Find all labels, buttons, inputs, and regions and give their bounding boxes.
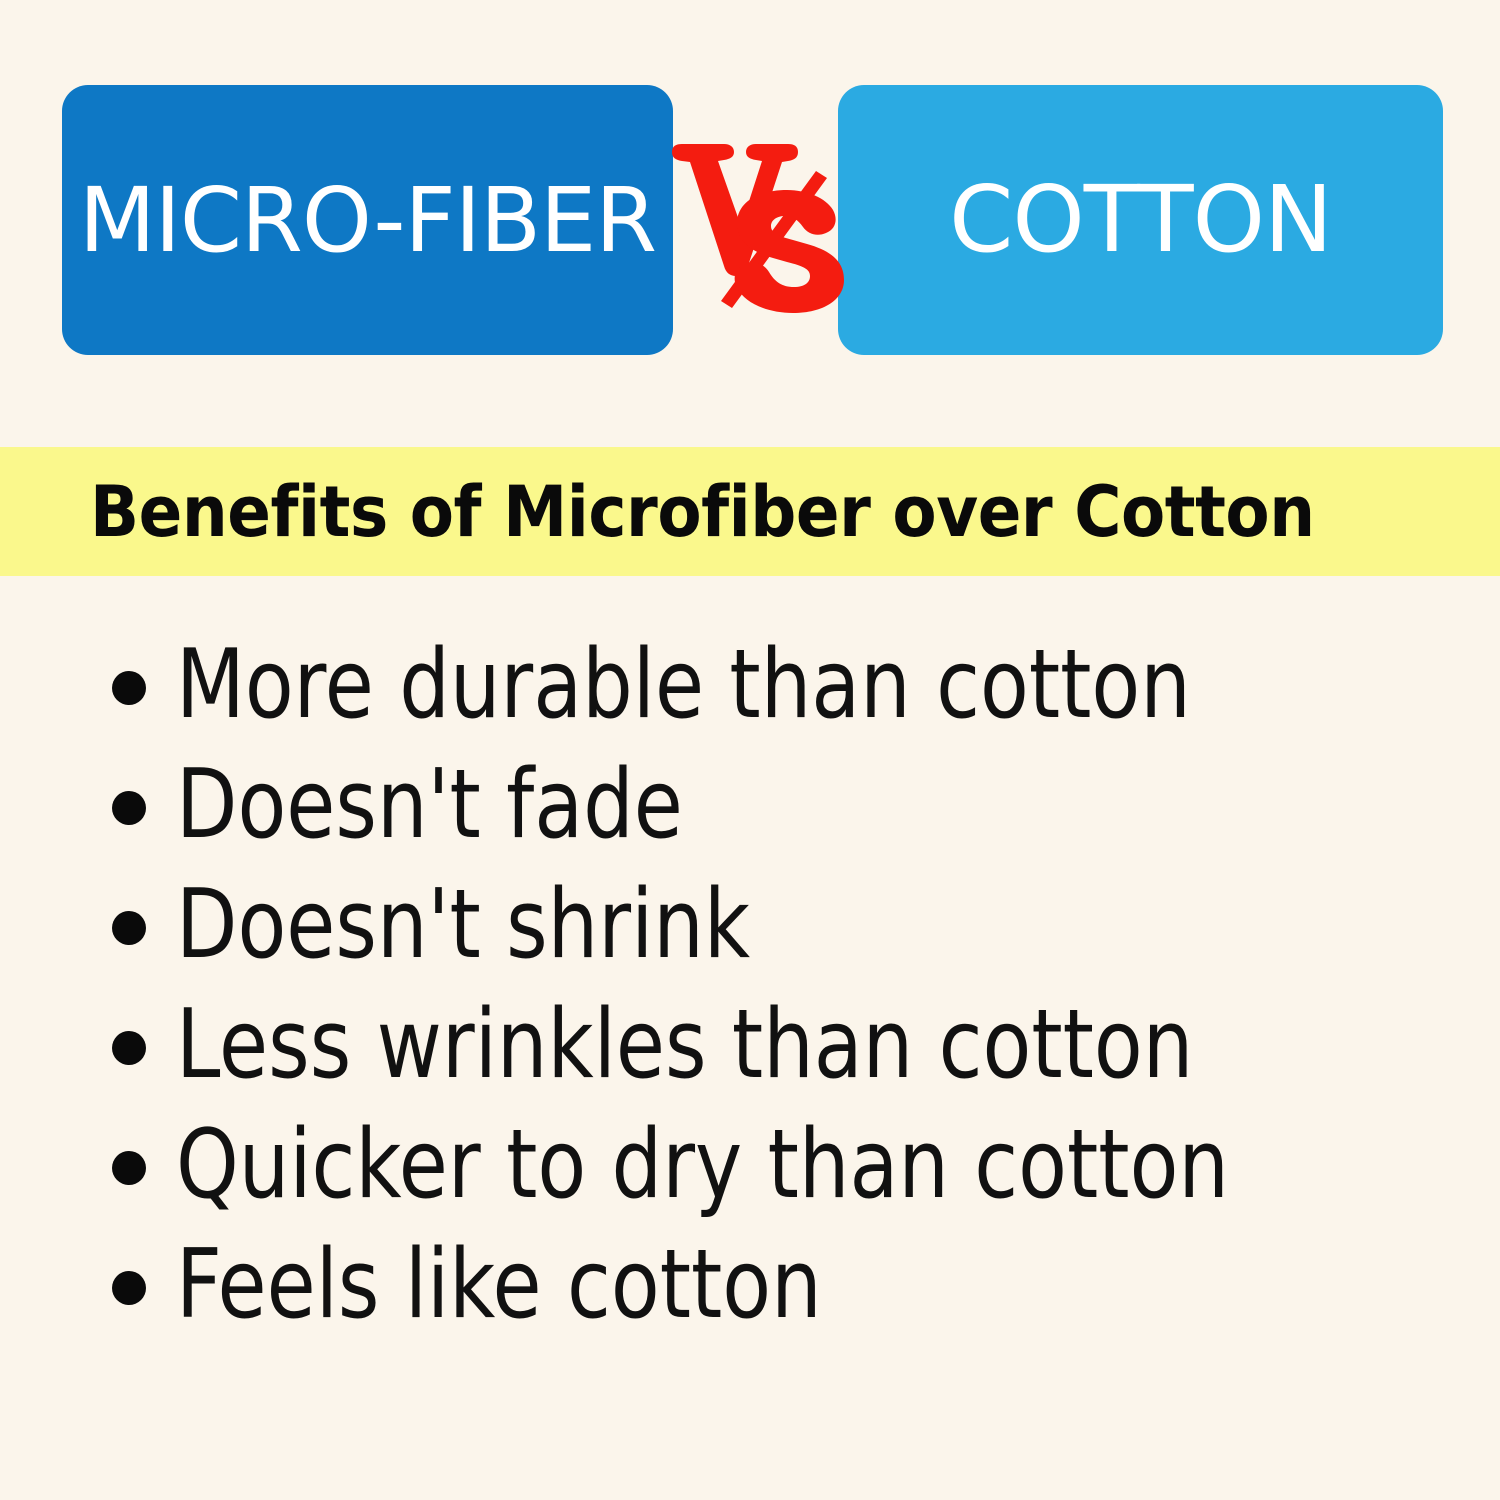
microfiber-box: MICRO-FIBER bbox=[62, 85, 673, 355]
list-item: Quicker to dry than cotton bbox=[0, 1105, 1500, 1225]
bullet-icon bbox=[112, 671, 146, 705]
infographic-root: MICRO-FIBER COTTON Benefits of Microfibe… bbox=[0, 0, 1500, 1500]
benefit-label: Less wrinkles than cotton bbox=[176, 998, 1193, 1093]
list-item: Less wrinkles than cotton bbox=[0, 985, 1500, 1105]
benefit-label: Feels like cotton bbox=[176, 1238, 822, 1333]
bullet-icon bbox=[112, 1271, 146, 1305]
benefit-label: Doesn't fade bbox=[176, 758, 683, 853]
bullet-icon bbox=[112, 911, 146, 945]
benefit-label: Doesn't shrink bbox=[176, 878, 750, 973]
benefit-label: More durable than cotton bbox=[176, 638, 1191, 733]
list-item: Feels like cotton bbox=[0, 1225, 1500, 1345]
benefits-list: More durable than cotton Doesn't fade Do… bbox=[0, 625, 1500, 1345]
title-band: Benefits of Microfiber over Cotton bbox=[0, 447, 1500, 576]
vs-emblem-icon bbox=[666, 128, 846, 313]
list-item: Doesn't fade bbox=[0, 745, 1500, 865]
benefit-label: Quicker to dry than cotton bbox=[176, 1118, 1229, 1213]
bullet-icon bbox=[112, 1151, 146, 1185]
list-item: Doesn't shrink bbox=[0, 865, 1500, 985]
microfiber-label: MICRO-FIBER bbox=[79, 176, 656, 265]
bullet-icon bbox=[112, 791, 146, 825]
page-title: Benefits of Microfiber over Cotton bbox=[90, 477, 1315, 547]
comparison-header: MICRO-FIBER COTTON bbox=[0, 0, 1500, 445]
bullet-icon bbox=[112, 1031, 146, 1065]
cotton-box: COTTON bbox=[838, 85, 1443, 355]
cotton-label: COTTON bbox=[949, 174, 1332, 266]
list-item: More durable than cotton bbox=[0, 625, 1500, 745]
